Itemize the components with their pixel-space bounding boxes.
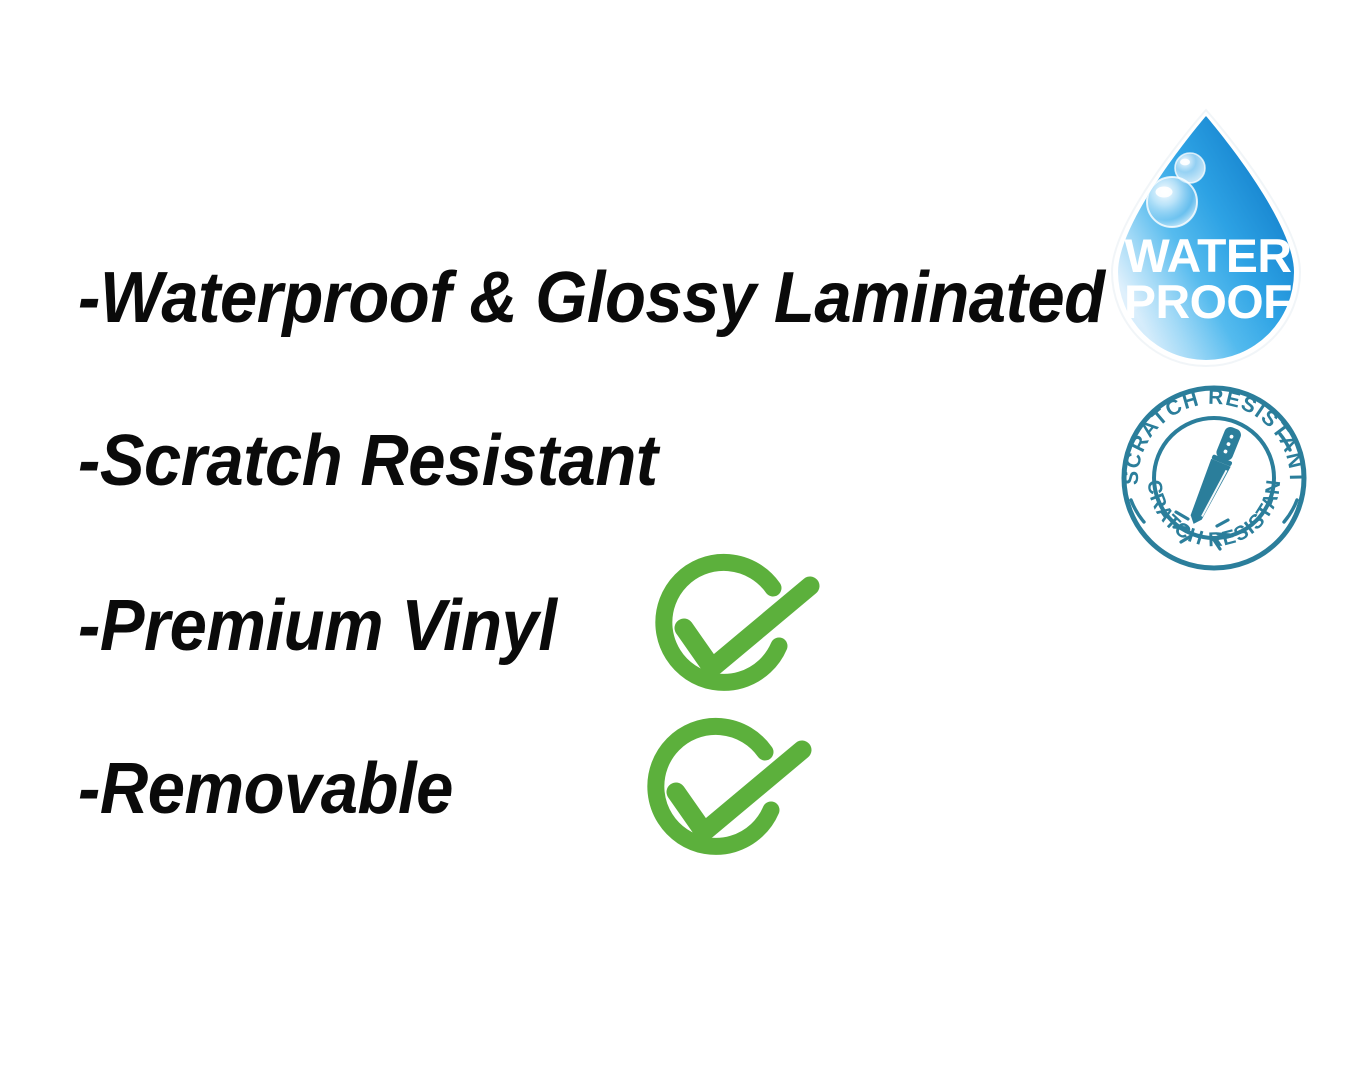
- scratch-resistant-badge: SCRATCH RESISTANT SCRATCH RESISTANT: [1114, 380, 1314, 572]
- feature-list: -Waterproof & Glossy Laminated -Scratch …: [0, 0, 1100, 1080]
- feature-graphic-canvas: -Waterproof & Glossy Laminated -Scratch …: [0, 0, 1359, 1080]
- check-mark-stroke: [684, 586, 810, 668]
- feature-item-removable: -Removable: [78, 753, 453, 825]
- waterproof-line2: PROOF: [1124, 276, 1292, 328]
- feature-item-scratch-resistant: -Scratch Resistant: [78, 425, 658, 497]
- waterproof-line1: WATER: [1125, 230, 1292, 282]
- knife-icon: [1186, 424, 1244, 528]
- check-circle-removable: [632, 716, 828, 876]
- check-mark-stroke: [676, 750, 802, 832]
- waterproof-badge: WATER PROOF: [1098, 106, 1318, 368]
- check-circle-premium-vinyl: [640, 552, 836, 712]
- feature-item-waterproof-glossy-laminated: -Waterproof & Glossy Laminated: [78, 262, 1105, 334]
- feature-item-premium-vinyl: -Premium Vinyl: [78, 590, 556, 662]
